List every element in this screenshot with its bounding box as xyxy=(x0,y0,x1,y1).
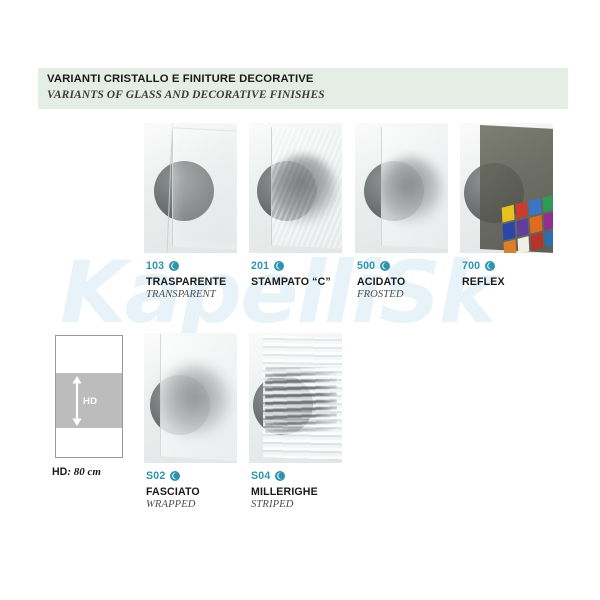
code-row: S02 xyxy=(146,469,200,483)
swatch-code: 201 xyxy=(251,260,269,272)
color-swatch xyxy=(502,205,514,223)
sphere-swatch-icon xyxy=(168,260,180,272)
swatch-caption-201: 201 STAMPATO “C” xyxy=(251,259,331,288)
sphere-swatch-icon xyxy=(274,470,286,482)
swatch-code: S02 xyxy=(146,470,165,482)
code-row: 700 xyxy=(462,259,505,273)
swatch-code: 700 xyxy=(462,260,480,272)
swatch-image-700[interactable] xyxy=(460,123,553,253)
sphere-swatch-icon xyxy=(484,260,496,272)
swatch-image-500[interactable] xyxy=(355,123,448,253)
swatch-name-en: FROSTED xyxy=(357,289,405,300)
color-swatch xyxy=(531,232,543,250)
color-swatch xyxy=(517,236,529,253)
sphere-swatch-icon xyxy=(169,470,181,482)
swatch-name: FASCIATO xyxy=(146,486,200,498)
swatch-name: REFLEX xyxy=(462,276,505,288)
sphere-swatch-icon xyxy=(273,260,285,272)
swatch-code: 103 xyxy=(146,260,164,272)
swatch-image-S02[interactable] xyxy=(144,333,237,463)
swatch-name-en: STRIPED xyxy=(251,499,318,510)
swatch-scene xyxy=(144,123,237,253)
swatch-caption-S02: S02 FASCIATO WRAPPED xyxy=(146,469,200,510)
hd-caption: HD: 80 cm xyxy=(52,466,101,478)
swatch-scene xyxy=(144,333,237,463)
swatch-code: 500 xyxy=(357,260,375,272)
page-title: VARIANTI CRISTALLO E FINITURE DECORATIVE xyxy=(47,73,314,85)
swatch-name: ACIDATO xyxy=(357,276,405,288)
section-header-banner: VARIANTI CRISTALLO E FINITURE DECORATIVE… xyxy=(38,68,568,109)
code-row: 500 xyxy=(357,259,405,273)
hd-caption-value: : 80 cm xyxy=(67,466,101,478)
hd-double-arrow-icon xyxy=(71,376,83,426)
catalog-page: KapelliSk VARIANTI CRISTALLO E FINITURE … xyxy=(0,0,600,600)
swatch-name: MILLERIGHE xyxy=(251,486,318,498)
swatch-image-201[interactable] xyxy=(249,123,342,253)
color-swatch xyxy=(516,219,528,237)
swatch-caption-700: 700 REFLEX xyxy=(462,259,505,288)
swatch-caption-103: 103 TRASPARENTE TRANSPARENT xyxy=(146,259,226,300)
hd-diagram: HD xyxy=(55,335,123,458)
color-swatch xyxy=(503,222,515,240)
hd-band-label: HD xyxy=(83,396,97,407)
color-swatch xyxy=(544,229,553,247)
swatch-caption-500: 500 ACIDATO FROSTED xyxy=(357,259,405,300)
swatch-scene xyxy=(460,123,553,253)
code-row: S04 xyxy=(251,469,318,483)
swatch-name-en: TRANSPARENT xyxy=(146,289,226,300)
color-swatch xyxy=(504,239,516,253)
swatch-scene xyxy=(249,123,342,253)
glass-panel xyxy=(172,127,237,250)
color-swatch xyxy=(515,202,527,220)
code-row: 201 xyxy=(251,259,331,273)
diffused-sphere-overlay xyxy=(160,365,230,437)
sphere-swatch-icon xyxy=(379,260,391,272)
swatch-name: TRASPARENTE xyxy=(146,276,226,288)
diffused-sphere-overlay xyxy=(379,157,443,223)
hd-caption-key: HD xyxy=(52,466,67,478)
page-subtitle: VARIANTS OF GLASS AND DECORATIVE FINISHE… xyxy=(47,89,325,101)
color-swatch xyxy=(543,212,553,230)
swatch-name: STAMPATO “C” xyxy=(251,276,331,288)
diffused-sphere-overlay xyxy=(271,155,337,225)
color-swatch xyxy=(542,195,553,213)
swatch-scene xyxy=(355,123,448,253)
swatch-code: S04 xyxy=(251,470,270,482)
swatch-scene xyxy=(249,333,342,463)
color-swatch xyxy=(530,215,542,233)
color-swatch xyxy=(529,198,541,216)
swatch-image-S04[interactable] xyxy=(249,333,342,463)
code-row: 103 xyxy=(146,259,226,273)
swatch-name-en: WRAPPED xyxy=(146,499,200,510)
swatch-caption-S04: S04 MILLERIGHE STRIPED xyxy=(251,469,318,510)
swatch-image-103[interactable] xyxy=(144,123,237,253)
striped-sphere-overlay xyxy=(265,367,337,433)
